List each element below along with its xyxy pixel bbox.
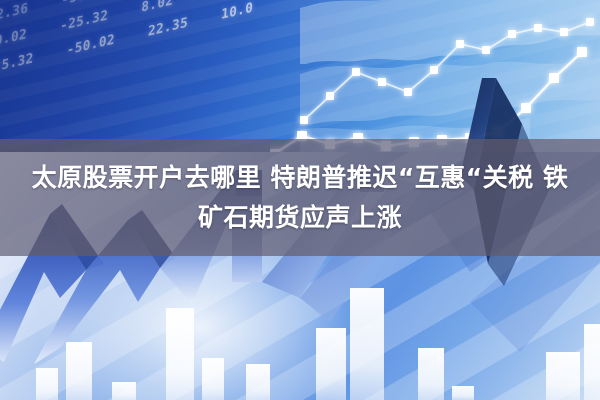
bar-group <box>36 288 600 400</box>
bar <box>112 382 136 400</box>
bar <box>66 342 92 400</box>
bar <box>246 364 270 400</box>
headline-overlay-band: 太原股票开户去哪里 特朗普推迟“互惠“关税 铁 矿石期货应声上涨 <box>0 139 600 256</box>
bar <box>350 288 384 400</box>
bar <box>546 352 580 400</box>
headline-line-2: 矿石期货应声上涨 <box>198 198 402 238</box>
bar <box>452 386 474 400</box>
bar <box>418 348 444 400</box>
bar <box>202 358 224 400</box>
bar <box>166 308 194 400</box>
bar <box>316 328 346 400</box>
headline-line-1: 太原股票开户去哪里 特朗普推迟“互惠“关税 铁 <box>32 158 569 198</box>
bar <box>584 324 600 400</box>
bar <box>36 368 58 400</box>
news-banner: -02.36 -11.25 45.02 21.08 -03.35 -03.35 … <box>0 0 600 400</box>
